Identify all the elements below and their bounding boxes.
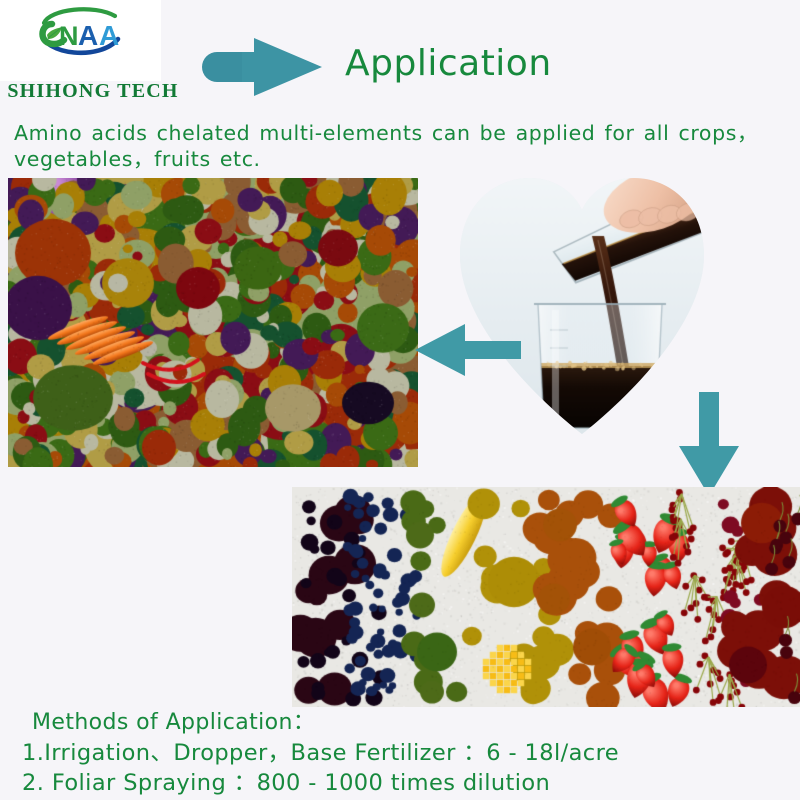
heart-shape-icon [458, 172, 706, 440]
svg-text:A: A [78, 20, 98, 51]
logo-white-panel: N A A [0, 0, 161, 81]
arrow-right-icon [202, 38, 322, 96]
fruits-photo [292, 487, 800, 707]
intro-paragraph: Amino acids chelated multi-elements can … [14, 120, 800, 172]
arrow-left-icon [415, 322, 521, 378]
svg-text:A: A [99, 20, 119, 51]
fruits-photo-canvas [292, 487, 800, 707]
arrow-down-icon [678, 392, 740, 496]
vegetables-photo-canvas [8, 178, 418, 467]
methods-heading: Methods of Application： [22, 708, 619, 738]
methods-item-2: 2. Foliar Spraying ：800 - 1000 times dil… [22, 768, 619, 798]
cnaa-leaf-arc-logo-icon: N A A [14, 6, 148, 60]
methods-item-1: 1.Irrigation、Dropper，Base Fertilizer ：6 … [22, 738, 619, 768]
liquid-photo-heart [458, 172, 706, 440]
vegetables-photo [8, 178, 418, 467]
page-title: Application [345, 43, 552, 84]
company-name: SHIHONG TECH [0, 80, 186, 103]
svg-text:N: N [59, 21, 79, 51]
methods-block: Methods of Application： 1.Irrigation、Dro… [22, 708, 619, 798]
application-infographic-page: N A A SHIHONG TECH Application Amino aci… [0, 0, 800, 800]
